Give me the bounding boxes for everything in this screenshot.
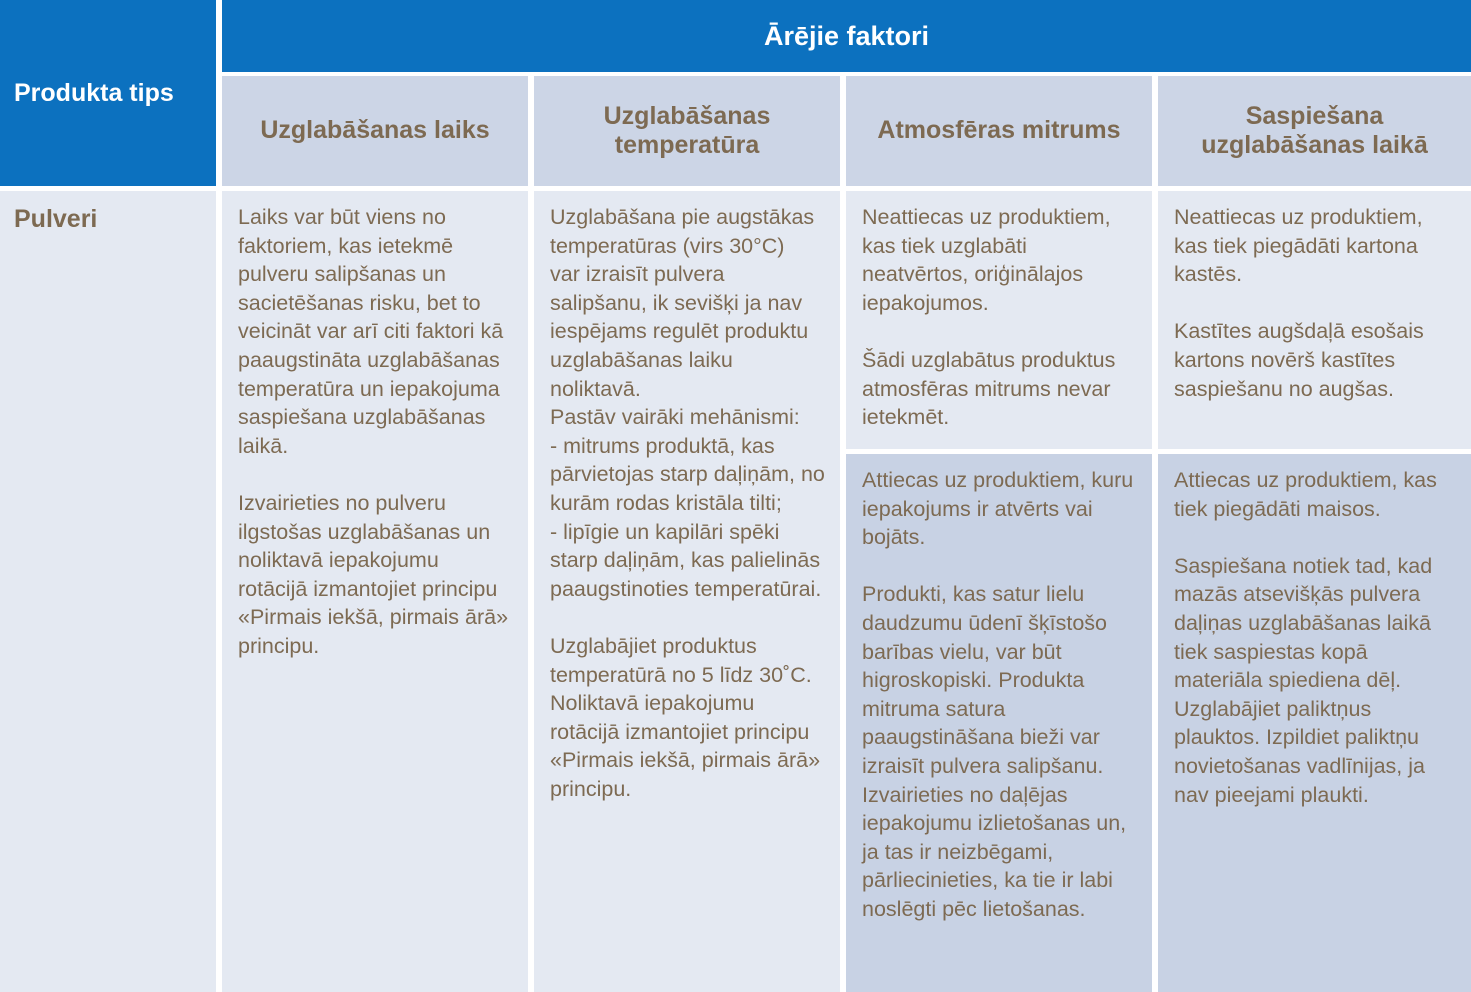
external-factors-table: Produkta tips Ārējie faktori Uzglabāšana… xyxy=(0,0,1471,992)
corner-header-label: Produkta tips xyxy=(14,79,174,108)
cell-compression-during-storage-text-bottom: Attiecas uz produktiem, kas tiek piegādā… xyxy=(1158,449,1471,992)
table-row: Pulveri Laiks var būt viens no faktoriem… xyxy=(0,186,1471,992)
cell-compression-during-storage: Neattiecas uz produktiem, kas tiek piegā… xyxy=(1158,191,1471,992)
group-header-external-factors: Ārējie faktori xyxy=(222,0,1471,72)
table-header: Produkta tips Ārējie faktori Uzglabāšana… xyxy=(0,0,1471,186)
header-right-group: Ārējie faktori Uzglabāšanas laiks Uzglab… xyxy=(222,0,1471,186)
cell-atmospheric-humidity-text-top: Neattiecas uz produktiem, kas tiek uzgla… xyxy=(846,191,1152,449)
cell-atmospheric-humidity: Neattiecas uz produktiem, kas tiek uzgla… xyxy=(846,191,1158,992)
column-header-storage-temperature: Uzglabāšanas temperatūra xyxy=(534,76,846,186)
row-label-text: Pulveri xyxy=(14,205,97,233)
column-header-storage-time: Uzglabāšanas laiks xyxy=(222,76,534,186)
corner-header-product-type: Produkta tips xyxy=(0,0,222,186)
cell-storage-time: Laiks var būt viens no faktoriem, kas ie… xyxy=(222,191,534,992)
cell-storage-temperature: Uzglabāšana pie augstākas temperatūras (… xyxy=(534,191,846,992)
column-headers-row: Uzglabāšanas laiks Uzglabāšanas temperat… xyxy=(222,72,1471,186)
cell-compression-during-storage-text-top: Neattiecas uz produktiem, kas tiek piegā… xyxy=(1158,191,1471,449)
row-label-powders: Pulveri xyxy=(0,191,222,992)
cell-storage-temperature-text: Uzglabāšana pie augstākas temperatūras (… xyxy=(534,191,840,992)
cell-atmospheric-humidity-text-bottom: Attiecas uz produktiem, kuru iepakojums … xyxy=(846,449,1152,992)
column-header-compression-during-storage: Saspiešana uzglabāšanas laikā xyxy=(1158,76,1471,186)
cell-storage-time-text: Laiks var būt viens no faktoriem, kas ie… xyxy=(222,191,528,992)
group-header-label: Ārējie faktori xyxy=(764,21,929,52)
column-header-atmospheric-humidity: Atmosfēras mitrums xyxy=(846,76,1158,186)
